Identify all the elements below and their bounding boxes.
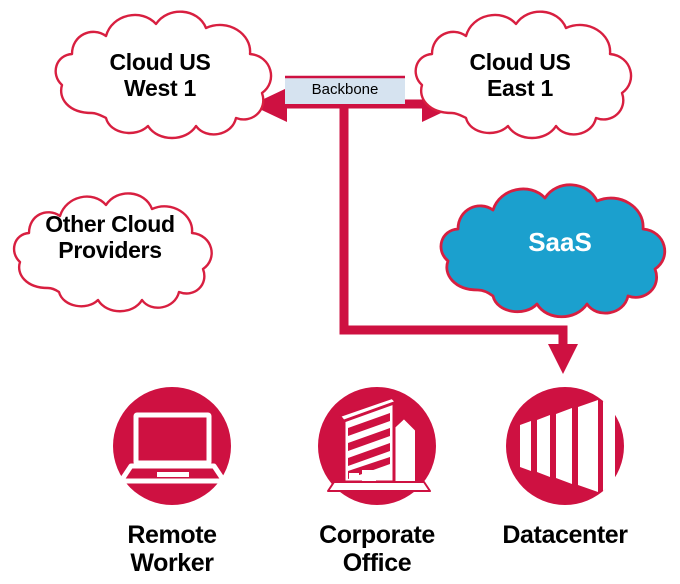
remote-worker-circle xyxy=(113,387,231,505)
cloud-shape-other-providers xyxy=(14,193,212,311)
cloud-other-providers[interactable] xyxy=(14,193,212,311)
cloud-us-east-1[interactable] xyxy=(416,12,631,138)
endpoint-corporate-office[interactable] xyxy=(318,387,436,505)
diagram-vector-layer xyxy=(0,0,680,584)
cloud-us-west-1[interactable] xyxy=(56,12,271,138)
cloud-shape-west xyxy=(56,12,271,138)
arrowhead-down-icon xyxy=(548,344,578,374)
backbone-box[interactable] xyxy=(285,76,405,104)
network-diagram-canvas: Cloud US West 1 Cloud US East 1 Other Cl… xyxy=(0,0,680,584)
cloud-saas[interactable] xyxy=(441,185,665,317)
endpoint-remote-worker[interactable] xyxy=(113,387,231,505)
cloud-shape-east xyxy=(416,12,631,138)
cloud-shape-saas xyxy=(441,185,665,317)
endpoint-datacenter[interactable] xyxy=(506,387,624,505)
backbone-box-fill xyxy=(285,76,405,104)
